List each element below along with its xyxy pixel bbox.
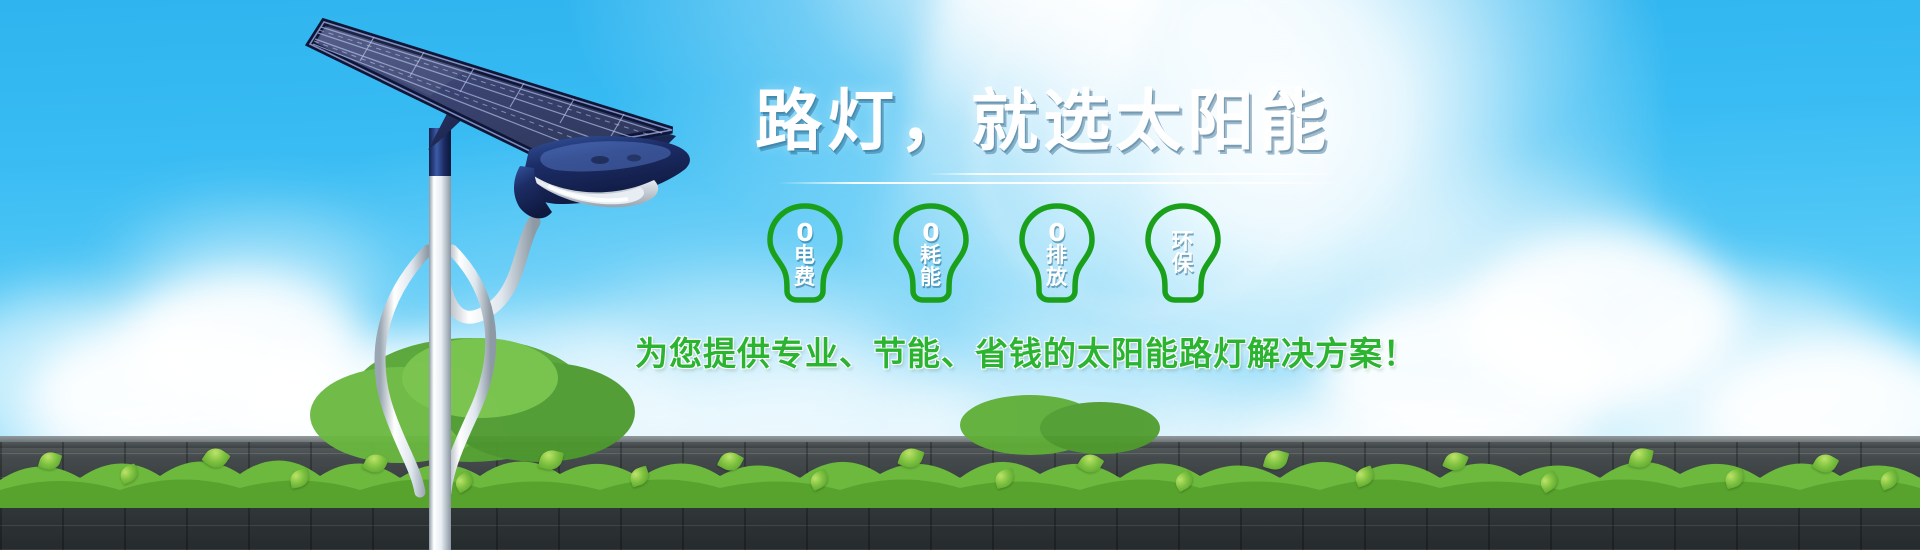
tiled-wall (0, 442, 1920, 550)
divider-line-bottom (777, 182, 1342, 184)
badge-number: 0 (1048, 220, 1065, 246)
badge-text: 0 电 费 (794, 218, 816, 288)
ground-layer (0, 422, 1920, 550)
badge-word-top: 排 (1046, 245, 1068, 266)
badge-word-bottom: 费 (794, 267, 816, 288)
badge-word-bottom: 能 (920, 267, 942, 288)
wall-cap (0, 436, 1920, 448)
badge-number: 0 (796, 220, 813, 246)
badge-word-top: 耗 (920, 245, 942, 266)
badge-word-top: 环 (1171, 232, 1194, 254)
divider (777, 169, 1342, 193)
badge-text: 0 排 放 (1046, 218, 1068, 288)
feature-badge-eco-friendly: 环 保 (1139, 201, 1227, 305)
feature-badge-energy-use: 0 耗 能 (887, 201, 975, 305)
page-title: 路灯，就选太阳能 (755, 88, 1515, 155)
badge-word-top: 电 (794, 245, 816, 266)
page-subtitle: 为您提供专业、节能、省钱的太阳能路灯解决方案！ (635, 327, 1515, 375)
solar-street-light-banner: 路灯，就选太阳能 0 电 费 0 (0, 0, 1920, 550)
feature-badge-list: 0 电 费 0 耗 能 0 (761, 201, 1515, 305)
badge-text: 0 耗 能 (920, 218, 942, 288)
badge-word-bottom: 放 (1046, 267, 1068, 288)
badge-word-bottom: 保 (1171, 254, 1194, 276)
badge-text: 环 保 (1171, 230, 1194, 277)
feature-badge-electricity-cost: 0 电 费 (761, 201, 849, 305)
badge-number: 0 (922, 220, 939, 246)
divider-line-top (927, 173, 1337, 175)
feature-badge-emissions: 0 排 放 (1013, 201, 1101, 305)
banner-copy: 路灯，就选太阳能 0 电 费 0 (755, 88, 1515, 375)
